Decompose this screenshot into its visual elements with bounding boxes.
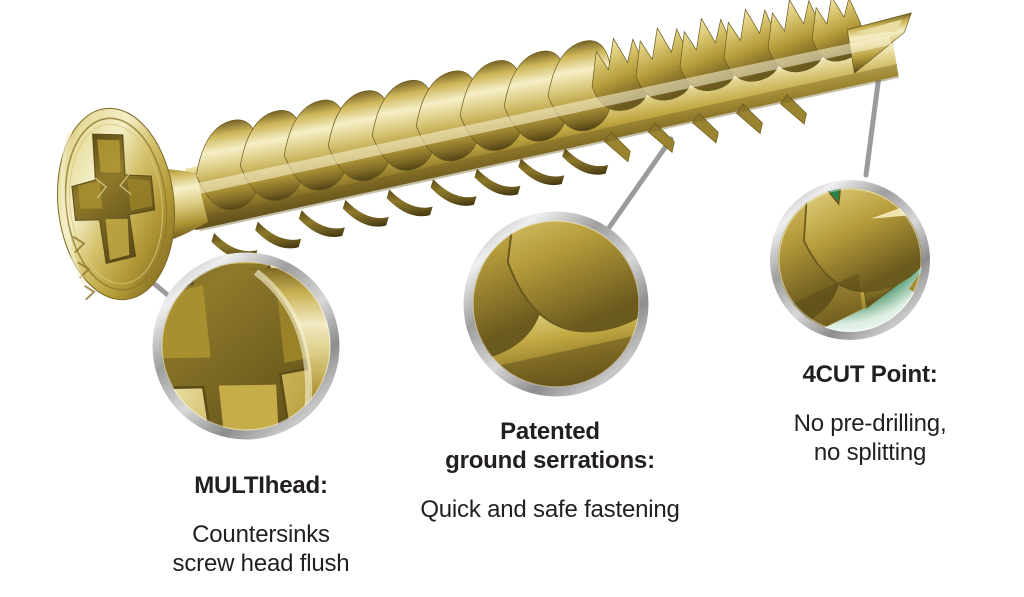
callout-point-title: 4CUT Point: xyxy=(742,360,998,389)
product-feature-illustration: MULTIhead: Countersinks screw head flush… xyxy=(0,0,1024,597)
callout-serrations: Patented ground serrations: Quick and sa… xyxy=(363,398,737,543)
leader-line-serrations xyxy=(606,139,671,232)
callout-serrations-title: Patented ground serrations: xyxy=(363,417,737,475)
callout-point-body: No pre-drilling, no splitting xyxy=(742,409,998,467)
callout-point: 4CUT Point: No pre-drilling, no splittin… xyxy=(742,341,998,486)
screw-head-disc xyxy=(48,102,183,305)
screw-threads-smooth xyxy=(185,38,624,215)
callout-serrations-body: Quick and safe fastening xyxy=(363,495,737,524)
